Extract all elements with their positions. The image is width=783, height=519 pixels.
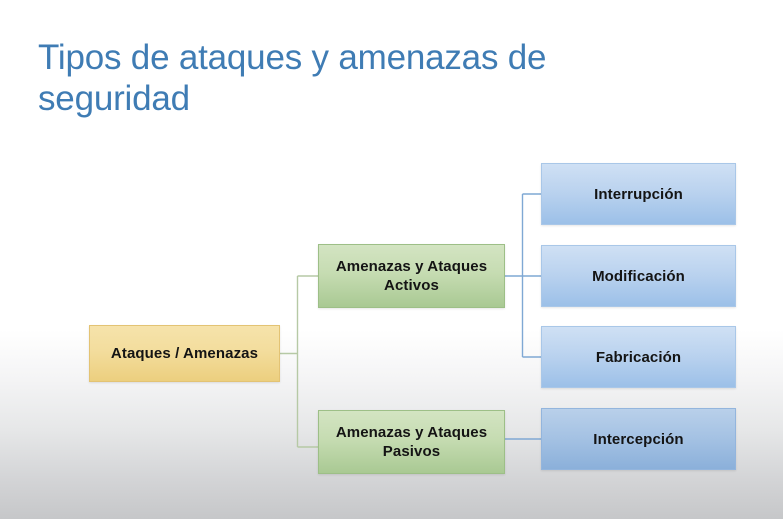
node-leaf-intercepcion[interactable]: Intercepción xyxy=(541,408,736,470)
node-label: Amenazas y Ataques Pasivos xyxy=(328,423,495,461)
node-branch-activos[interactable]: Amenazas y Ataques Activos xyxy=(318,244,505,308)
node-branch-pasivos[interactable]: Amenazas y Ataques Pasivos xyxy=(318,410,505,474)
node-label: Intercepción xyxy=(585,430,691,449)
connector-activos-to-leaves xyxy=(505,194,541,357)
node-label: Fabricación xyxy=(588,348,689,367)
node-leaf-modificacion[interactable]: Modificación xyxy=(541,245,736,307)
node-label: Amenazas y Ataques Activos xyxy=(328,257,495,295)
node-label: Ataques / Amenazas xyxy=(103,344,266,363)
node-root-ataques-amenazas[interactable]: Ataques / Amenazas xyxy=(89,325,280,382)
connector-root-to-branches xyxy=(280,276,318,447)
slide-canvas: Tipos de ataques y amenazas de seguridad… xyxy=(0,0,783,519)
node-leaf-fabricacion[interactable]: Fabricación xyxy=(541,326,736,388)
node-label: Interrupción xyxy=(586,185,691,204)
node-leaf-interrupcion[interactable]: Interrupción xyxy=(541,163,736,225)
node-label: Modificación xyxy=(584,267,693,286)
